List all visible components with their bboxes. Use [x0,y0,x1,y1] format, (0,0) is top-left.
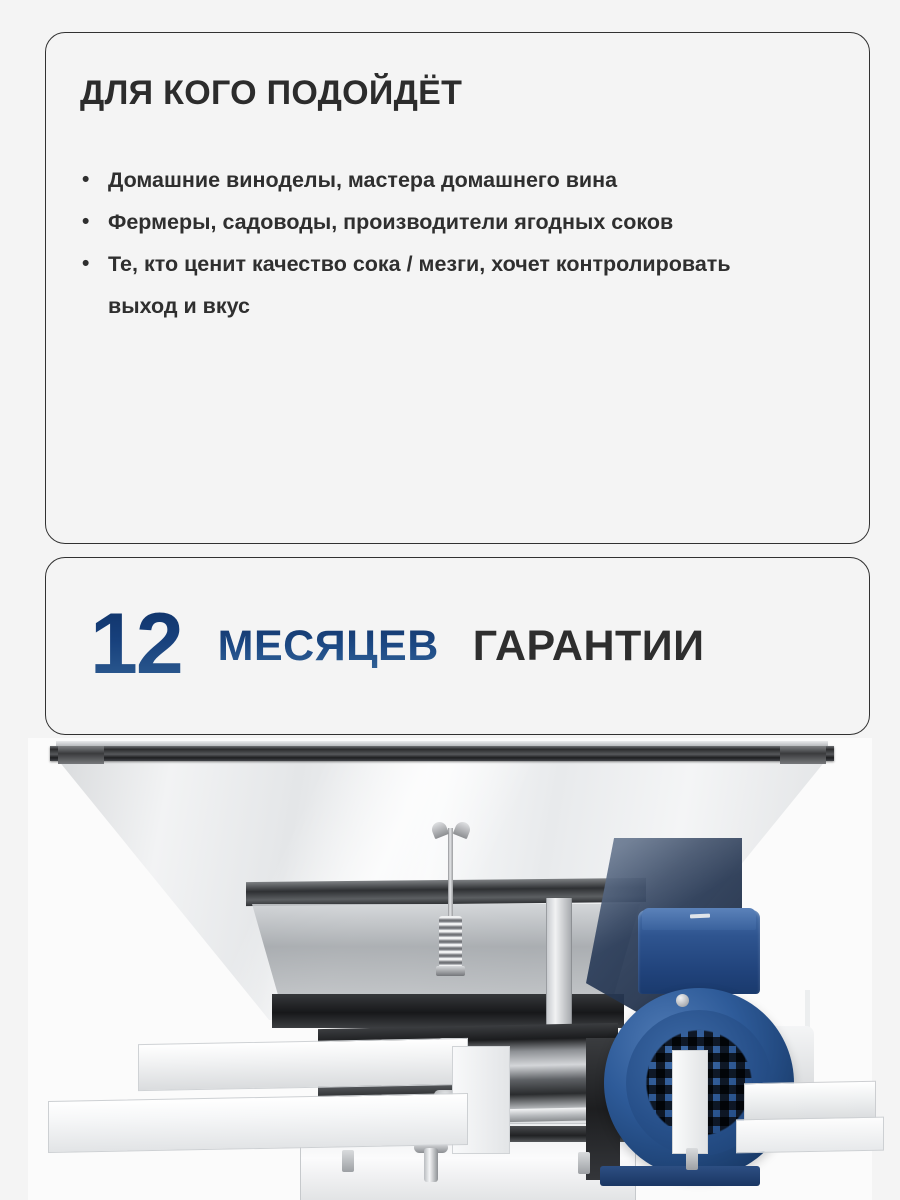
motor-bolt [676,994,689,1007]
support-rail-front-right [736,1117,884,1154]
motor-terminal-box-lid [642,908,756,930]
bullet-dot-icon: • [82,244,89,285]
frame-foot [342,1150,354,1172]
list-item-label: Те, кто ценит качество сока / мезги, хоч… [108,252,731,318]
list-item: • Домашние виноделы, мастера домашнего в… [80,160,780,202]
warranty-label: ГАРАНТИИ [473,625,705,668]
motor-base [600,1166,760,1186]
support-rail-back-left [138,1038,468,1091]
warranty-number: 12 [90,601,182,687]
motor-box-marking [690,914,710,919]
rail-joint-right [672,1050,708,1154]
bullet-dot-icon: • [82,160,89,201]
list-item: • Те, кто ценит качество сока / мезги, х… [80,244,780,328]
bullet-dot-icon: • [82,202,89,243]
support-rail-front-left [48,1093,468,1153]
page-title: ДЛЯ КОГО ПОДОЙДЁТ [80,75,835,112]
frame-foot [686,1148,698,1170]
warranty-months-label: МЕСЯЦЕВ [218,625,439,668]
audience-card: ДЛЯ КОГО ПОДОЙДЁТ • Домашние виноделы, м… [45,32,870,544]
list-item: • Фермеры, садоводы, производители ягодн… [80,202,780,244]
hopper-inner-band [246,878,646,906]
drain-tap [424,1148,438,1182]
hopper-rim-lip [56,741,828,746]
frame-foot [578,1152,590,1174]
wingnut-icon [432,822,470,839]
adjust-screw-shaft [448,828,453,924]
list-item-label: Фермеры, садоводы, производители ягодных… [108,210,673,234]
audience-bullet-list: • Домашние виноделы, мастера домашнего в… [80,160,835,328]
spring-cap [436,966,465,976]
promo-page: ДЛЯ КОГО ПОДОЙДЁТ • Домашние виноделы, м… [0,0,900,1200]
adjust-spring [439,916,462,968]
list-item-label: Домашние виноделы, мастера домашнего вин… [108,168,617,192]
warranty-card: 12 МЕСЯЦЕВ ГАРАНТИИ [45,557,870,735]
hopper-rim [50,746,834,761]
